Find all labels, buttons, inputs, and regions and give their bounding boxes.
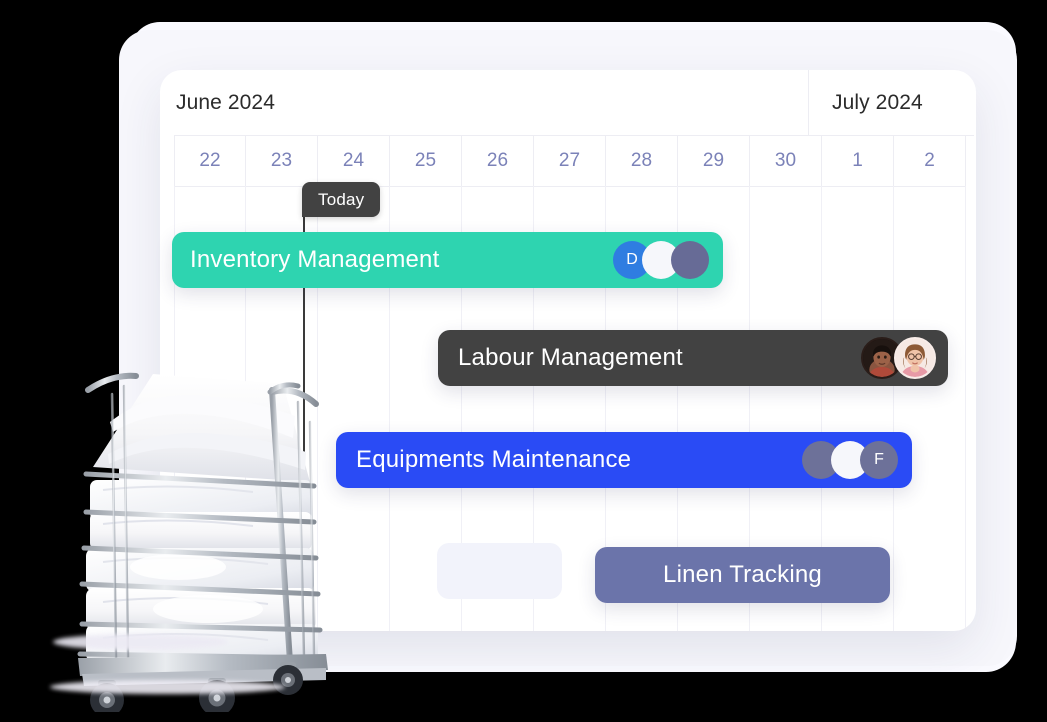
cart-shadow-secondary [50,680,285,694]
grid-column [894,186,966,631]
month-label-july: July 2024 [832,91,923,115]
laundry-cart-illustration [58,362,348,712]
avatar-photo-person-glasses[interactable] [894,337,936,379]
month-header-july[interactable]: July 2024 [808,70,976,135]
task-bar-equipments-maintenance[interactable]: Equipments Maintenance F [336,432,912,488]
day-cell-29[interactable]: 29 [678,136,750,186]
day-cell-22[interactable]: 22 [174,136,246,186]
day-cell-26[interactable]: 26 [462,136,534,186]
cart-shadow [53,634,228,650]
day-cell-30[interactable]: 30 [750,136,822,186]
day-cell-23[interactable]: 23 [246,136,318,186]
month-label-june: June 2024 [176,91,275,115]
month-header-row: June 2024 July 2024 [160,70,976,135]
task-label-linen-tracking: Linen Tracking [663,561,822,589]
task-label-labour-management: Labour Management [458,344,683,372]
today-marker-flag[interactable]: Today [302,182,380,217]
avatar-group-labour-management[interactable] [861,337,936,379]
day-cell-1[interactable]: 1 [822,136,894,186]
day-cell-24[interactable]: 24 [318,136,390,186]
task-bar-inventory-management[interactable]: Inventory Management D [172,232,723,288]
day-cell-25[interactable]: 25 [390,136,462,186]
task-bar-placeholder[interactable] [437,543,562,599]
month-header-june[interactable]: June 2024 [160,70,808,135]
day-cell-28[interactable]: 28 [606,136,678,186]
avatar-initial-f[interactable]: F [860,441,898,479]
screenshot-root: June 2024 July 2024 22 23 24 25 26 27 28… [0,0,1047,722]
task-label-equipments-maintenance: Equipments Maintenance [356,446,631,474]
task-bar-labour-management[interactable]: Labour Management [438,330,948,386]
day-cell-2[interactable]: 2 [894,136,966,186]
cart-svg [58,362,348,712]
day-cell-27[interactable]: 27 [534,136,606,186]
avatar-group-inventory-management[interactable]: D [613,241,709,279]
avatar-blank-slate[interactable] [671,241,709,279]
task-label-inventory-management: Inventory Management [190,246,439,274]
task-bar-linen-tracking[interactable]: Linen Tracking [595,547,890,603]
avatar-group-equipments-maintenance[interactable]: F [802,441,898,479]
day-number-row: 22 23 24 25 26 27 28 29 30 1 2 [174,136,966,186]
